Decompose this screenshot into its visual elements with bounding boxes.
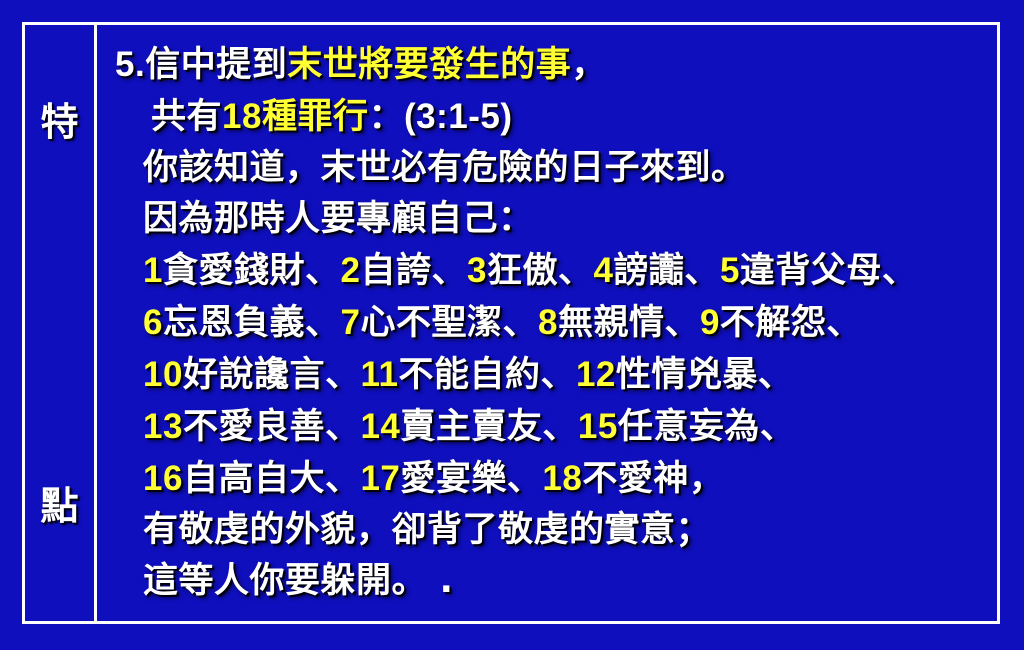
label-top-character: 特 bbox=[40, 103, 78, 141]
line-5-segment-4: 自誇、 bbox=[360, 251, 467, 291]
line-1-segment-3: 末世將要發生的事 bbox=[287, 45, 571, 85]
line-2-segment-3: 種罪行 bbox=[262, 97, 369, 137]
line-2: 共有18種罪行：(3:1-5) bbox=[115, 91, 997, 143]
label-bottom-character: 點 bbox=[40, 487, 78, 525]
line-7: 10好說讒言、11不能自約、12性情兇暴、 bbox=[115, 349, 997, 401]
line-9-segment-1: 16 bbox=[143, 459, 183, 498]
line-6-segment-5: 8 bbox=[538, 303, 558, 342]
line-4-segment-1: 因為那時人要專顧自己： bbox=[143, 199, 534, 239]
line-5-segment-9: 5 bbox=[720, 251, 740, 290]
line-7-segment-2: 好說讒言、 bbox=[183, 355, 361, 395]
line-4: 因為那時人要專顧自己： bbox=[115, 194, 997, 245]
line-10: 有敬虔的外貌，卻背了敬虔的實意； bbox=[115, 505, 997, 556]
line-5-segment-8: 謗讟、 bbox=[613, 251, 720, 291]
line-6-segment-1: 6 bbox=[143, 303, 163, 342]
line-10-segment-1: 有敬虔的外貌，卻背了敬虔的實意； bbox=[143, 510, 711, 550]
line-7-segment-6: 性情兇暴、 bbox=[616, 355, 794, 395]
line-1-segment-4: ， bbox=[571, 45, 607, 85]
line-2-segment-4: ： bbox=[368, 97, 404, 137]
line-1-segment-2: 信中提到 bbox=[145, 45, 287, 85]
line-5-segment-1: 1 bbox=[143, 251, 163, 290]
line-9-segment-6: 不愛神， bbox=[582, 459, 724, 499]
line-6-segment-7: 9 bbox=[700, 303, 720, 342]
line-6-segment-6: 無親情、 bbox=[558, 303, 700, 343]
line-2-segment-1: 共有 bbox=[151, 97, 222, 137]
slide-root: 特 點 5.信中提到末世將要發生的事，共有18種罪行：(3:1-5)你該知道，末… bbox=[0, 0, 1024, 650]
label-column: 特 點 bbox=[25, 25, 97, 621]
line-6-segment-8: 不解怨、 bbox=[720, 303, 862, 343]
line-5-segment-6: 狂傲、 bbox=[487, 251, 594, 291]
line-6-segment-2: 忘恩負義、 bbox=[163, 303, 341, 343]
line-9-segment-2: 自高自大、 bbox=[183, 459, 361, 499]
line-8-segment-6: 任意妄為、 bbox=[618, 407, 796, 447]
line-8: 13不愛良善、14賣主賣友、15任意妄為、 bbox=[115, 401, 997, 453]
line-11-segment-1: 這等人你要躲開。 . bbox=[143, 561, 453, 601]
line-8-segment-5: 15 bbox=[578, 407, 618, 446]
line-7-segment-4: 不能自約、 bbox=[398, 355, 576, 395]
line-7-segment-5: 12 bbox=[576, 355, 616, 394]
line-5-segment-3: 2 bbox=[340, 251, 360, 290]
line-5-segment-2: 貪愛錢財、 bbox=[163, 251, 341, 291]
line-3-segment-1: 你該知道，末世必有危險的日子來到。 bbox=[143, 148, 747, 188]
line-2-segment-5: (3:1-5) bbox=[404, 97, 513, 136]
line-7-segment-3: 11 bbox=[360, 355, 398, 394]
line-9-segment-3: 17 bbox=[360, 459, 400, 498]
line-5: 1貪愛錢財、2自誇、3狂傲、4謗讟、5違背父母、 bbox=[115, 245, 997, 297]
line-8-segment-1: 13 bbox=[143, 407, 183, 446]
line-5-segment-10: 違背父母、 bbox=[740, 251, 918, 291]
line-5-segment-5: 3 bbox=[467, 251, 487, 290]
line-9: 16自高自大、17愛宴樂、18不愛神， bbox=[115, 453, 997, 505]
line-9-segment-5: 18 bbox=[542, 459, 582, 498]
line-1: 5.信中提到末世將要發生的事， bbox=[115, 39, 997, 91]
line-6-segment-3: 7 bbox=[340, 303, 360, 342]
line-5-segment-7: 4 bbox=[593, 251, 613, 290]
line-1-segment-1: 5. bbox=[115, 45, 145, 84]
line-9-segment-4: 愛宴樂、 bbox=[400, 459, 542, 499]
content-column: 5.信中提到末世將要發生的事，共有18種罪行：(3:1-5)你該知道，末世必有危… bbox=[97, 25, 997, 621]
line-8-segment-4: 賣主賣友、 bbox=[400, 407, 578, 447]
slide-frame: 特 點 5.信中提到末世將要發生的事，共有18種罪行：(3:1-5)你該知道，末… bbox=[22, 22, 1000, 624]
line-6-segment-4: 心不聖潔、 bbox=[360, 303, 538, 343]
line-11: 這等人你要躲開。 . bbox=[115, 556, 997, 607]
line-2-segment-2: 18 bbox=[222, 97, 262, 136]
line-6: 6忘恩負義、7心不聖潔、8無親情、9不解怨、 bbox=[115, 297, 997, 349]
line-8-segment-3: 14 bbox=[360, 407, 400, 446]
line-8-segment-2: 不愛良善、 bbox=[183, 407, 361, 447]
line-7-segment-1: 10 bbox=[143, 355, 183, 394]
line-3: 你該知道，末世必有危險的日子來到。 bbox=[115, 143, 997, 194]
